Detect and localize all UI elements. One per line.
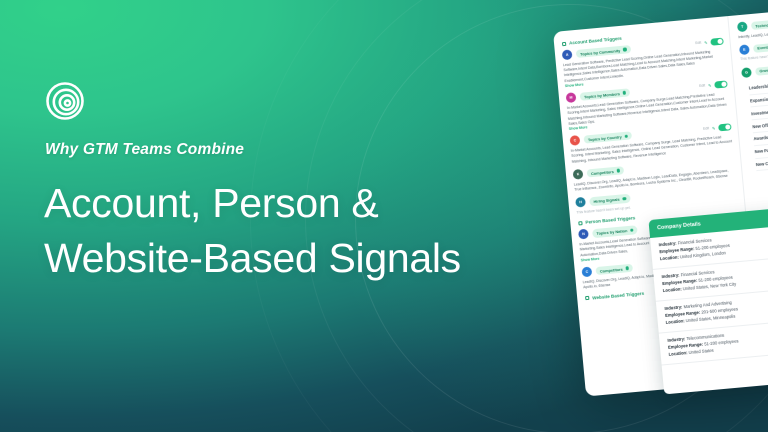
company-details-card: Company Details Intent Signals Industry:… — [648, 200, 768, 394]
field-value: United States — [688, 347, 713, 354]
headline-line-2: Website-Based Signals — [44, 231, 544, 286]
trigger-chip[interactable]: Hiring Signals — [589, 194, 630, 206]
trigger-chip[interactable]: Technologies — [751, 18, 768, 30]
section-marker-icon — [585, 296, 589, 300]
row-controls: Edit✎ — [699, 80, 728, 90]
avatar: E — [739, 44, 750, 55]
headline-line-1: Account, Person & — [44, 176, 544, 231]
avatar: T — [737, 21, 748, 32]
avatar: C — [570, 135, 581, 146]
spiral-logo-icon — [44, 80, 88, 124]
field-label: Industry: — [658, 241, 677, 248]
growth-signals-list: Leadership ChangesExpansionsInvestmentsN… — [748, 73, 768, 172]
section-title-label: Account Based Triggers — [569, 36, 622, 46]
field-label: Location: — [666, 318, 686, 325]
trigger-chip[interactable]: Growth Signals — [755, 64, 768, 76]
hero-background: Why GTM Teams Combine Account, Person & … — [0, 0, 768, 432]
field-label: Location: — [668, 350, 688, 357]
section-marker-icon — [578, 221, 582, 225]
field-label: Industry: — [661, 272, 680, 279]
field-label: Location: — [660, 254, 680, 261]
avatar: C — [581, 267, 592, 278]
edit-label[interactable]: Edit — [699, 84, 705, 89]
pencil-icon[interactable]: ✎ — [708, 83, 712, 88]
trigger-chip[interactable]: Topics by Members — [580, 88, 631, 101]
trigger-chip[interactable]: Topics by Country — [584, 132, 633, 145]
chip-dot-icon — [617, 169, 621, 173]
avatar: M — [566, 92, 577, 103]
avatar: K — [573, 169, 584, 180]
app-screenshot-mock: Account Based TriggersATopics by Communi… — [553, 5, 768, 399]
trigger-row-header: TTechnologies — [737, 12, 768, 32]
toggle-switch[interactable] — [718, 123, 732, 131]
eyebrow-text: Why GTM Teams Combine — [45, 141, 244, 159]
avatar: G — [741, 67, 752, 78]
toggle-switch[interactable] — [714, 80, 728, 88]
pencil-icon[interactable]: ✎ — [704, 40, 708, 45]
trigger-chip[interactable]: Topics by Nation — [592, 225, 638, 237]
edit-label[interactable]: Edit — [703, 127, 709, 132]
chip-dot-icon — [630, 228, 634, 232]
field-label: Industry: — [667, 336, 686, 343]
chip-dot-icon — [626, 267, 630, 271]
trigger-chip[interactable]: Events — [753, 42, 768, 53]
row-controls: Edit✎ — [703, 123, 732, 133]
trigger-row: TTechnologiesIntently, LeadIQ, LeadIQ, H… — [737, 12, 768, 40]
trigger-chip[interactable]: Competitors — [587, 166, 625, 178]
chip-dot-icon — [623, 91, 627, 95]
avatar: H — [575, 197, 586, 208]
chip-dot-icon — [622, 197, 626, 201]
field-value: 51-200 employees — [704, 338, 739, 346]
trigger-chip[interactable]: Competitors — [595, 264, 633, 276]
toggle-switch[interactable] — [710, 37, 724, 45]
section-title-label: Person Based Triggers — [585, 216, 635, 226]
section-title-label: Website Based Triggers — [592, 290, 644, 300]
page-title: Account, Person & Website-Based Signals — [44, 176, 544, 286]
field-label: Location: — [663, 286, 683, 293]
pencil-icon[interactable]: ✎ — [712, 126, 716, 131]
trigger-chip[interactable]: Topics by Community — [576, 45, 631, 58]
chip-dot-icon — [624, 134, 628, 138]
row-controls: Edit✎ — [695, 37, 724, 47]
section-marker-icon — [562, 41, 566, 45]
field-label: Industry: — [664, 304, 683, 311]
avatar: A — [562, 49, 573, 60]
avatar: N — [578, 229, 589, 240]
edit-label[interactable]: Edit — [695, 41, 701, 46]
chip-dot-icon — [623, 48, 627, 52]
